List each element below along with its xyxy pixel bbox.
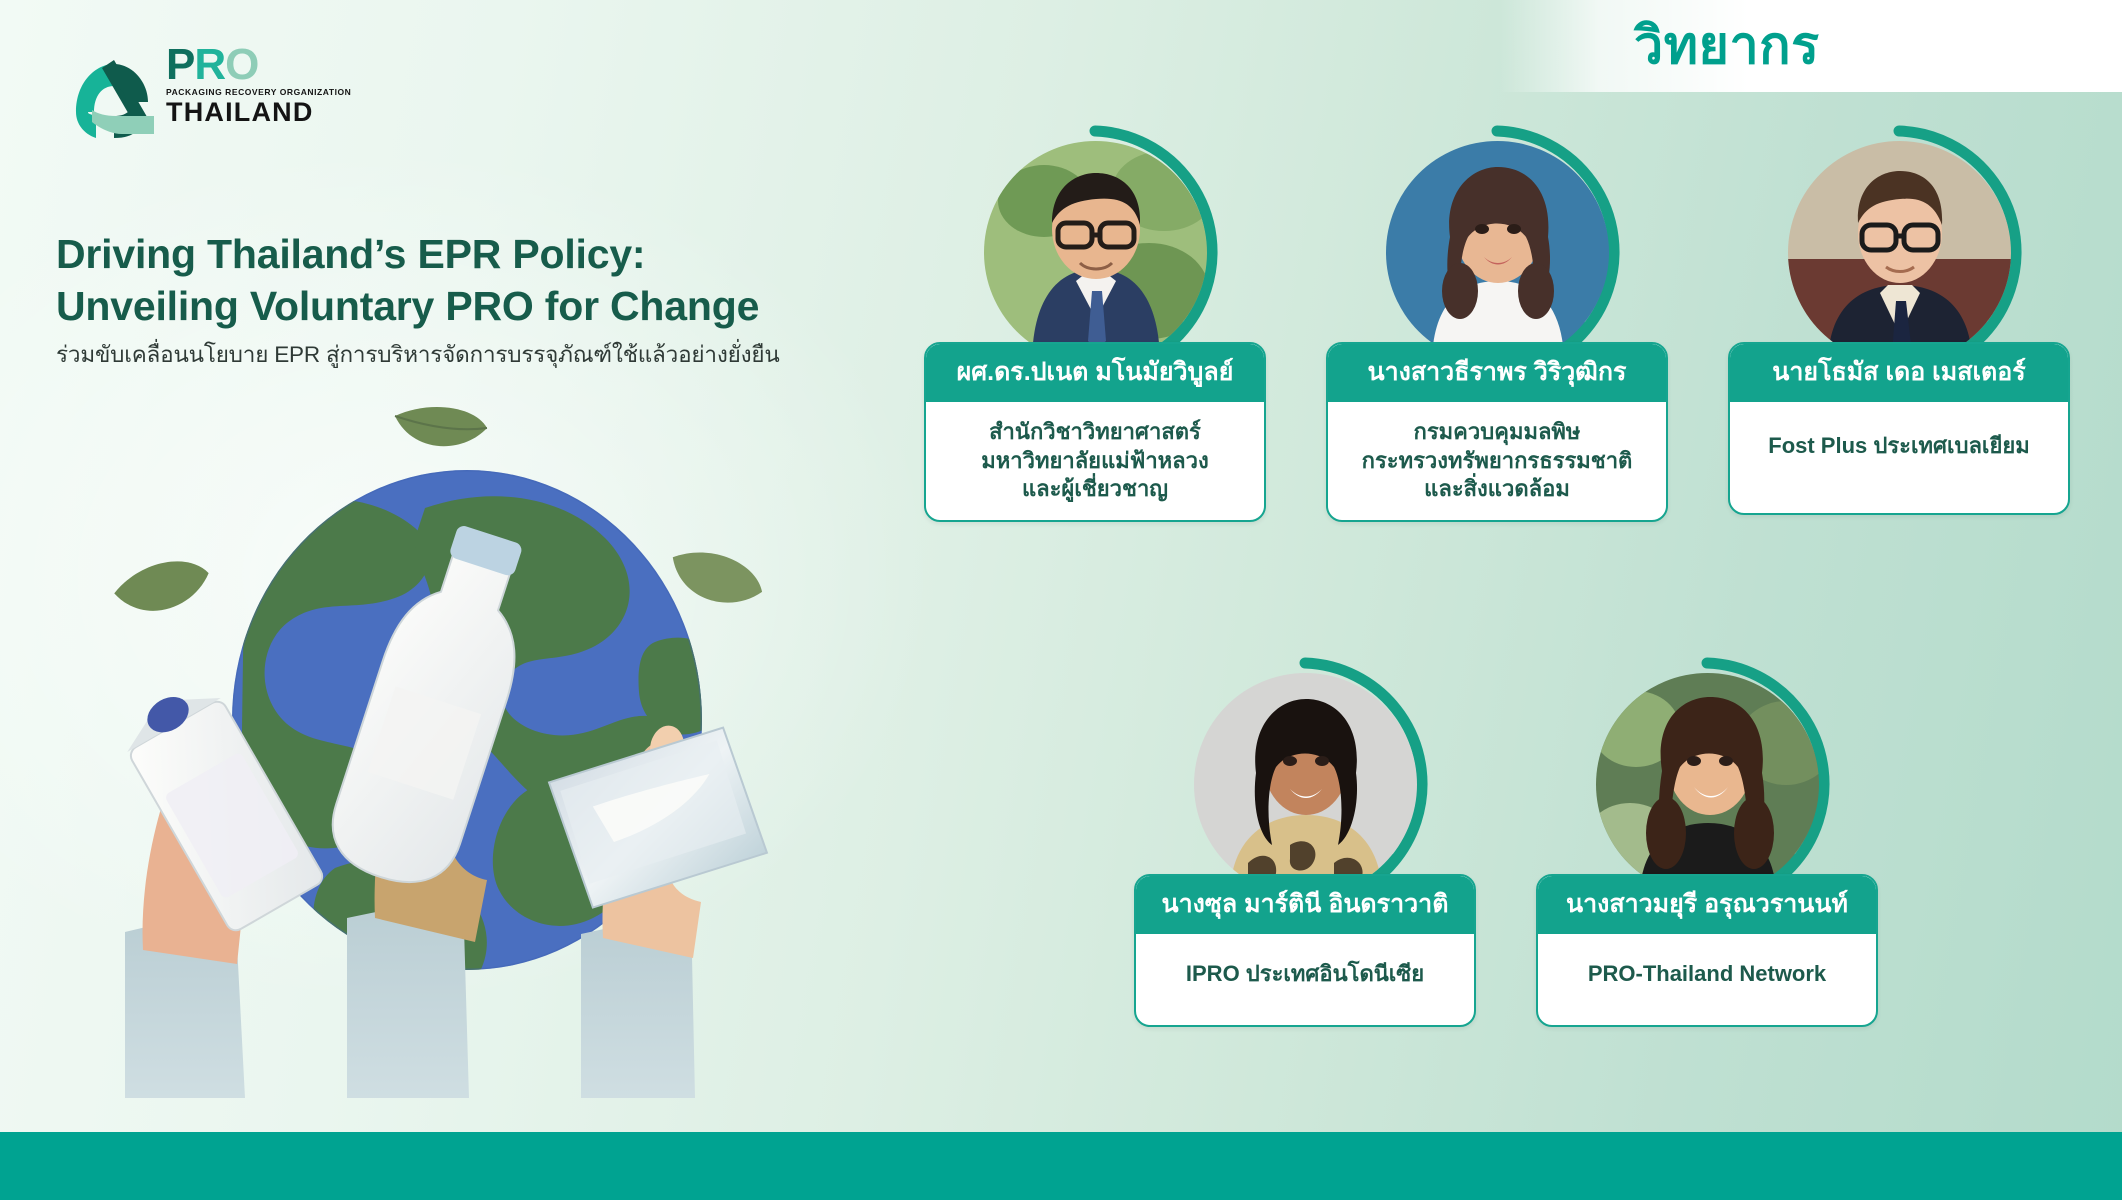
speaker-org-line: กระทรวงทรัพยากรธรรมชาติ — [1338, 447, 1656, 476]
speakers-grid: ผศ.ดร.ปเนต มโนมัยวิบูลย์ สำนักวิชาวิทยาศ… — [900, 120, 2080, 1120]
speaker-photo-panate — [984, 141, 1207, 364]
speakers-row-top: ผศ.ดร.ปเนต มโนมัยวิบูลย์ สำนักวิชาวิทยาศ… — [900, 120, 2094, 385]
speaker-org-line: มหาวิทยาลัยแม่ฟ้าหลวง — [936, 447, 1254, 476]
logo-letter-r: R — [194, 40, 225, 89]
logo-wordmark: PRO PACKAGING RECOVERY ORGANIZATION THAI… — [166, 46, 332, 126]
speaker-card[interactable]: นางสาวธีราพร วิริวุฒิกร กรมควบคุมมลพิษ ก… — [1302, 120, 1692, 385]
title-block: Driving Thailand’s EPR Policy: Unveiling… — [56, 228, 936, 371]
header-banner-title: วิทยากร — [1634, 20, 1820, 72]
title-subtitle-thai: ร่วมขับเคลื่อนนโยบาย EPR สู่การบริหารจัด… — [56, 340, 936, 370]
speaker-name: นางสาวธีราพร วิริวุฒิกร — [1328, 344, 1666, 402]
speaker-org-line: Fost Plus ประเทศเบลเยียม — [1740, 432, 2058, 461]
speaker-photo-teeraporn — [1386, 141, 1609, 364]
hands-holding-packaging-earth-illustration — [95, 398, 835, 1098]
speaker-name: นางสาวมยุรี อรุณวรานนท์ — [1538, 876, 1876, 934]
speakers-row-bottom: นางซุล มาร์ตินี อินดราวาติ IPRO ประเทศอิ… — [1110, 652, 1902, 917]
speaker-card[interactable]: นางซุล มาร์ตินี อินดราวาติ IPRO ประเทศอิ… — [1110, 652, 1500, 917]
speaker-org: Fost Plus ประเทศเบลเยียม — [1730, 402, 2068, 513]
speaker-org-line: สำนักวิชาวิทยาศาสตร์ — [936, 418, 1254, 447]
speaker-org-line: และสิ่งแวดล้อม — [1338, 475, 1656, 504]
title-line-2: Unveiling Voluntary PRO for Change — [56, 280, 936, 332]
speaker-photo-thomas — [1788, 141, 2011, 364]
speaker-name: ผศ.ดร.ปเนต มโนมัยวิบูลย์ — [926, 344, 1264, 402]
brand-logo: PRO PACKAGING RECOVERY ORGANIZATION THAI… — [62, 38, 332, 142]
speaker-namecard: ผศ.ดร.ปเนต มโนมัยวิบูลย์ สำนักวิชาวิทยาศ… — [924, 342, 1266, 522]
speaker-card[interactable]: ผศ.ดร.ปเนต มโนมัยวิบูลย์ สำนักวิชาวิทยาศ… — [900, 120, 1290, 385]
speaker-org-line: กรมควบคุมมลพิษ — [1338, 418, 1656, 447]
header-banner: วิทยากร — [1500, 0, 2122, 92]
speaker-namecard: นายโธมัส เดอ เมสเตอร์ Fost Plus ประเทศเบ… — [1728, 342, 2070, 515]
logo-letter-o: O — [225, 40, 258, 89]
footer-bar — [0, 1132, 2122, 1200]
pro-thailand-recycle-logo-icon — [62, 38, 158, 142]
speaker-photo-sulmartini — [1194, 673, 1417, 896]
speaker-namecard: นางซุล มาร์ตินี อินดราวาติ IPRO ประเทศอิ… — [1134, 874, 1476, 1027]
speaker-org-line: และผู้เชี่ยวชาญ — [936, 475, 1254, 504]
speaker-namecard: นางสาวมยุรี อรุณวรานนท์ PRO-Thailand Net… — [1536, 874, 1878, 1027]
title-line-1: Driving Thailand’s EPR Policy: — [56, 228, 936, 280]
speaker-org: กรมควบคุมมลพิษ กระทรวงทรัพยากรธรรมชาติ แ… — [1328, 402, 1666, 520]
speaker-org: สำนักวิชาวิทยาศาสตร์ มหาวิทยาลัยแม่ฟ้าหล… — [926, 402, 1264, 520]
speaker-card[interactable]: นางสาวมยุรี อรุณวรานนท์ PRO-Thailand Net… — [1512, 652, 1902, 917]
speaker-org-line: PRO-Thailand Network — [1548, 960, 1866, 989]
speaker-name: นายโธมัส เดอ เมสเตอร์ — [1730, 344, 2068, 402]
poster-canvas: วิทยากร PRO PACKAGING RECOVERY ORGANIZAT… — [0, 0, 2122, 1200]
logo-tagline: PACKAGING RECOVERY ORGANIZATION — [166, 87, 332, 97]
speaker-card[interactable]: นายโธมัส เดอ เมสเตอร์ Fost Plus ประเทศเบ… — [1704, 120, 2094, 385]
logo-letter-p: P — [166, 40, 194, 89]
speaker-photo-mayuree — [1596, 673, 1819, 896]
speaker-org: PRO-Thailand Network — [1538, 934, 1876, 1025]
logo-country: THAILAND — [166, 99, 332, 126]
speaker-org-line: IPRO ประเทศอินโดนีเซีย — [1146, 960, 1464, 989]
logo-pro-text: PRO — [166, 46, 332, 85]
speaker-namecard: นางสาวธีราพร วิริวุฒิกร กรมควบคุมมลพิษ ก… — [1326, 342, 1668, 522]
speaker-org: IPRO ประเทศอินโดนีเซีย — [1136, 934, 1474, 1025]
speaker-name: นางซุล มาร์ตินี อินดราวาติ — [1136, 876, 1474, 934]
